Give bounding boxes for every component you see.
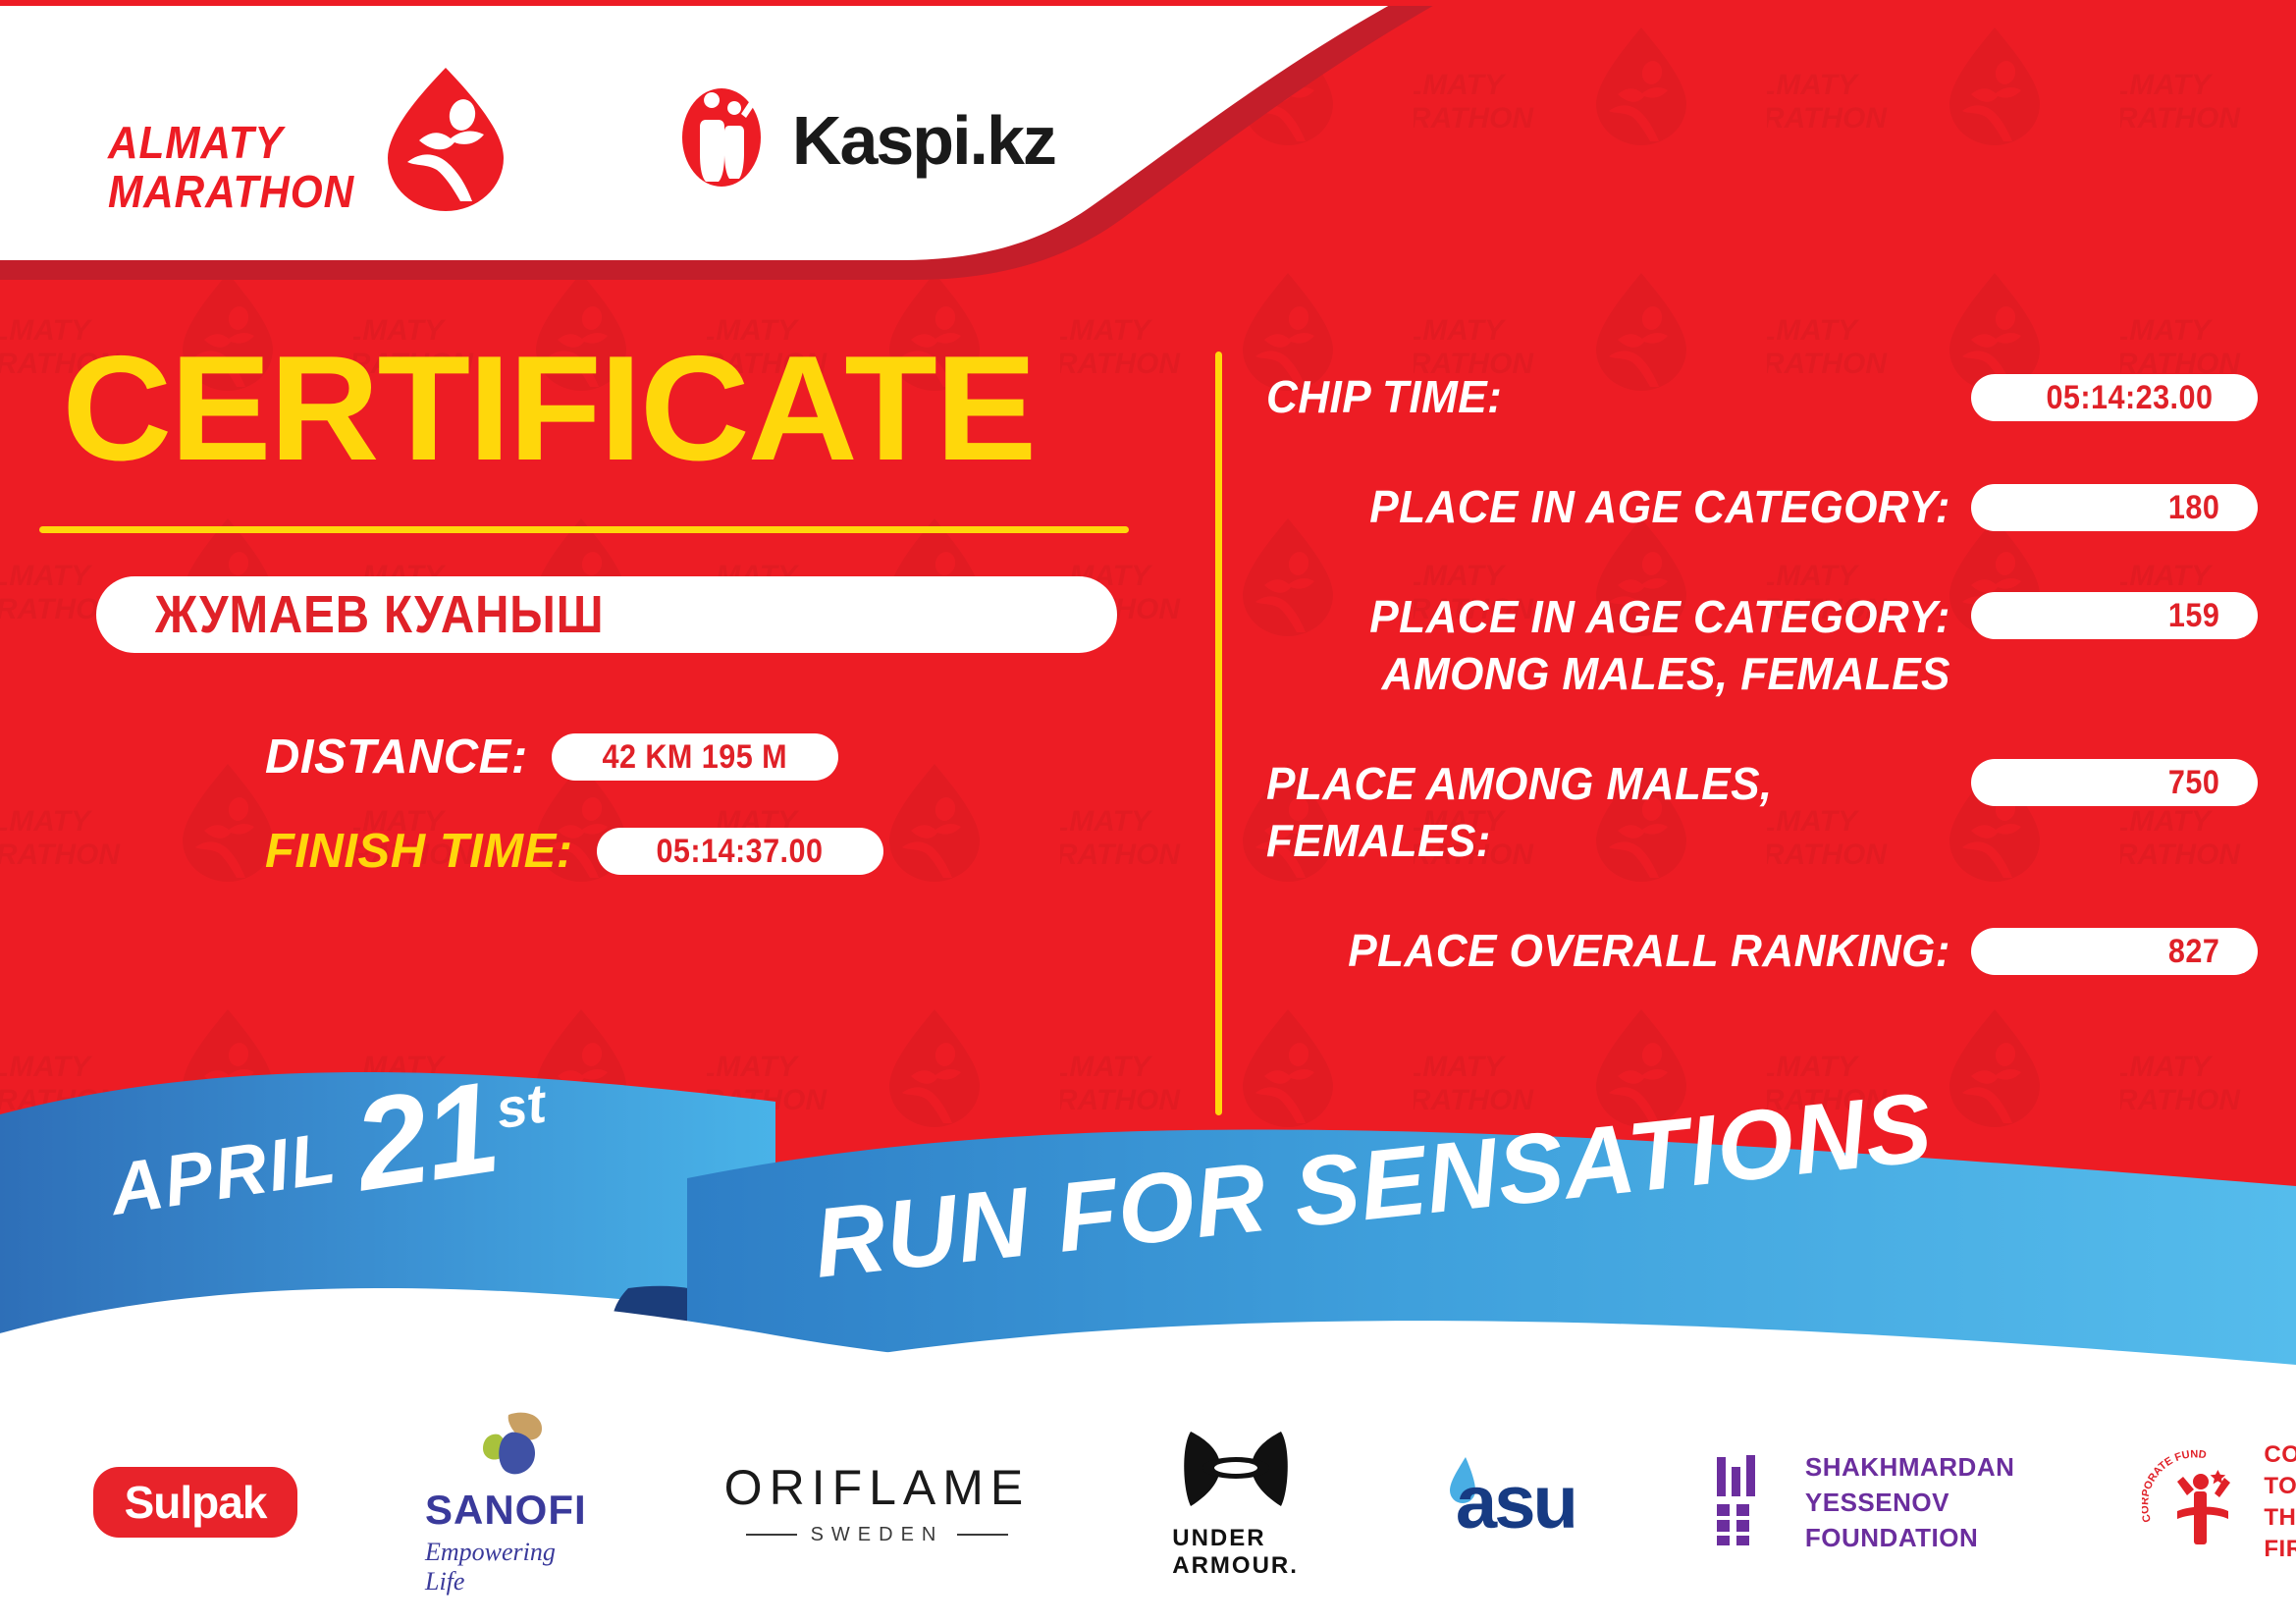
- stat-row: PLACE OVERALL RANKING:827: [1266, 922, 2258, 979]
- stat-row: PLACE AMONG MALES,FEMALES:750: [1266, 755, 2258, 869]
- yessenov-wordmark: SHAKHMARDAN YESSENOV FOUNDATION: [1805, 1449, 2015, 1555]
- stat-label-line1: PLACE IN AGE CATEGORY:: [1295, 588, 1950, 645]
- stat-label-line2: FEMALES:: [1266, 812, 1922, 869]
- distance-row: DISTANCE: 42 KM 195 M: [265, 730, 1188, 785]
- oriflame-rule-left: [746, 1534, 797, 1536]
- almaty-marathon-logo: ALMATY MARATHON: [108, 64, 509, 216]
- stat-label: PLACE IN AGE CATEGORY:AMONG MALES, FEMAL…: [1295, 588, 1971, 702]
- stat-row: PLACE IN AGE CATEGORY:180: [1266, 478, 2258, 535]
- stat-label-line1: PLACE AMONG MALES,: [1266, 755, 1922, 812]
- sanofi-wordmark: SANOFI: [425, 1487, 587, 1534]
- sulpak-wordmark: Sulpak: [125, 1476, 267, 1529]
- kaspi-wordmark: Kaspi.kz: [792, 101, 1055, 180]
- title-underline: [39, 526, 1129, 533]
- finish-time-value: 05:14:37.00: [657, 833, 824, 871]
- participant-name-field: ЖУМАЕВ КУАНЫШ: [96, 576, 1117, 653]
- asu-wordmark: asu: [1456, 1460, 1575, 1545]
- page-title: CERTIFICATE: [0, 334, 1211, 483]
- sponsor-corporate-fund: CORPORATE FUND COURAGE TO BE THE FIRST!: [2142, 1439, 2296, 1565]
- certificate-page: ALMATY MARATHON: [0, 0, 2296, 1624]
- yessenov-line1: SHAKHMARDAN YESSENOV: [1805, 1449, 2015, 1520]
- stat-label: PLACE OVERALL RANKING:: [1295, 922, 1971, 979]
- stat-label: PLACE IN AGE CATEGORY:: [1295, 478, 1971, 535]
- sulpak-badge: Sulpak: [93, 1467, 297, 1538]
- yessenov-line2: FOUNDATION: [1805, 1520, 2015, 1555]
- top-red-rule: [0, 0, 2296, 6]
- event-day: 21: [348, 1073, 504, 1201]
- distance-pill: 42 KM 195 M: [552, 733, 838, 781]
- finish-time-pill: 05:14:37.00: [597, 828, 883, 875]
- under-armour-icon: [1177, 1426, 1295, 1519]
- oriflame-sweden: SWEDEN: [811, 1524, 944, 1546]
- sanofi-mark-icon: [463, 1409, 548, 1483]
- oriflame-sub: SWEDEN: [746, 1524, 1009, 1546]
- asu-droplet-icon: [1446, 1455, 1456, 1550]
- distance-value: 42 KM 195 M: [602, 738, 787, 777]
- sponsor-row: Sulpak SANOFI Empowering Life ORIFLAME S…: [0, 1414, 2296, 1591]
- yellow-divider: [1215, 352, 1222, 1115]
- yessenov-blocks-icon: [1713, 1455, 1784, 1550]
- running-man-droplet-icon: [382, 64, 509, 216]
- stat-value-pill: 750: [1971, 759, 2258, 806]
- sponsor-asu: asu: [1446, 1455, 1575, 1550]
- sponsor-sulpak: Sulpak: [93, 1467, 297, 1538]
- stat-row: PLACE IN AGE CATEGORY:AMONG MALES, FEMAL…: [1266, 588, 2258, 702]
- sponsor-under-armour: UNDER ARMOUR.: [1172, 1426, 1299, 1580]
- stat-value: 180: [2168, 489, 2219, 527]
- corporate-fund-wordmark: COURAGE TO BE THE FIRST!: [2264, 1439, 2296, 1565]
- stat-value: 827: [2168, 933, 2219, 971]
- sponsor-sanofi: SANOFI Empowering Life: [425, 1409, 587, 1597]
- sponsor-oriflame: ORIFLAME SWEDEN: [724, 1459, 1031, 1546]
- results-stats-column: CHIP TIME:05:14:23.00PLACE IN AGE CATEGO…: [1266, 368, 2258, 1032]
- stat-value-pill: 05:14:23.00: [1971, 374, 2258, 421]
- under-armour-wordmark: UNDER ARMOUR.: [1172, 1525, 1299, 1580]
- corporate-fund-figure-icon: CORPORATE FUND: [2142, 1446, 2250, 1559]
- corporate-fund-line3: THE FIRST!: [2264, 1502, 2296, 1565]
- stat-label-line2: AMONG MALES, FEMALES: [1295, 645, 1950, 702]
- header-logos: ALMATY MARATHON: [0, 0, 1276, 280]
- stat-value-pill: 827: [1971, 928, 2258, 975]
- distance-label: DISTANCE:: [265, 730, 528, 785]
- almaty-word: ALMATY: [108, 118, 354, 167]
- oriflame-wordmark: ORIFLAME: [724, 1459, 1031, 1516]
- stat-row: CHIP TIME:05:14:23.00: [1266, 368, 2258, 425]
- stat-value-pill: 159: [1971, 592, 2258, 639]
- stat-value: 05:14:23.00: [2047, 379, 2214, 417]
- event-day-ordinal: st: [492, 1071, 550, 1142]
- almaty-marathon-wordmark: ALMATY MARATHON: [108, 118, 354, 216]
- sponsor-yessenov-foundation: SHAKHMARDAN YESSENOV FOUNDATION: [1713, 1449, 2015, 1555]
- stat-value-pill: 180: [1971, 484, 2258, 531]
- corporate-fund-line2: TO BE: [2264, 1471, 2296, 1502]
- finish-time-row: FINISH TIME: 05:14:37.00: [265, 824, 1188, 879]
- left-column: CERTIFICATE ЖУМАЕВ КУАНЫШ DISTANCE: 42 K…: [0, 334, 1188, 879]
- stat-value: 750: [2168, 764, 2219, 802]
- participant-name: ЖУМАЕВ КУАНЫШ: [155, 584, 604, 645]
- corporate-fund-line1: COURAGE: [2264, 1439, 2296, 1471]
- sanofi-tagline: Empowering Life: [425, 1538, 587, 1597]
- kaspi-people-circle-icon: [676, 84, 767, 195]
- stat-label: PLACE AMONG MALES,FEMALES:: [1266, 755, 1943, 869]
- oriflame-rule-right: [957, 1534, 1008, 1536]
- marathon-word: MARATHON: [108, 167, 354, 216]
- kaspi-logo: Kaspi.kz: [676, 84, 1055, 195]
- finish-time-label: FINISH TIME:: [265, 824, 573, 879]
- stat-value: 159: [2168, 597, 2219, 635]
- stat-label: CHIP TIME:: [1266, 368, 1943, 425]
